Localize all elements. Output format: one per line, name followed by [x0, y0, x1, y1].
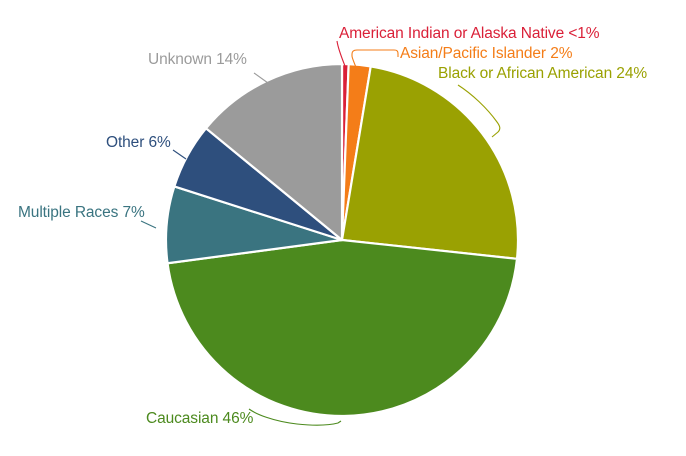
- pie-slice-black-or-african-american[interactable]: [342, 66, 518, 258]
- slice-label-american-indian-or-alaska-native: American Indian or Alaska Native <1%: [339, 26, 599, 42]
- pie-slices-group: [166, 64, 518, 416]
- slice-label-asian-pacific-islander: Asian/Pacific Islander 2%: [400, 46, 572, 62]
- leader-line-other: [173, 150, 186, 159]
- slice-label-other: Other 6%: [106, 135, 171, 151]
- slice-label-unknown: Unknown 14%: [148, 52, 247, 68]
- pie-chart-figure: American Indian or Alaska Native <1% Asi…: [0, 0, 686, 456]
- leader-line-unknown: [254, 73, 268, 83]
- slice-label-multiple-races: Multiple Races 7%: [18, 205, 145, 221]
- leader-line-american-indian-or-alaska-native: [337, 41, 345, 66]
- pie-slice-caucasian[interactable]: [168, 240, 517, 416]
- leader-line-multiple-races: [141, 221, 156, 228]
- slice-label-caucasian: Caucasian 46%: [146, 411, 253, 427]
- slice-label-black-or-african-american: Black or African American 24%: [438, 66, 647, 82]
